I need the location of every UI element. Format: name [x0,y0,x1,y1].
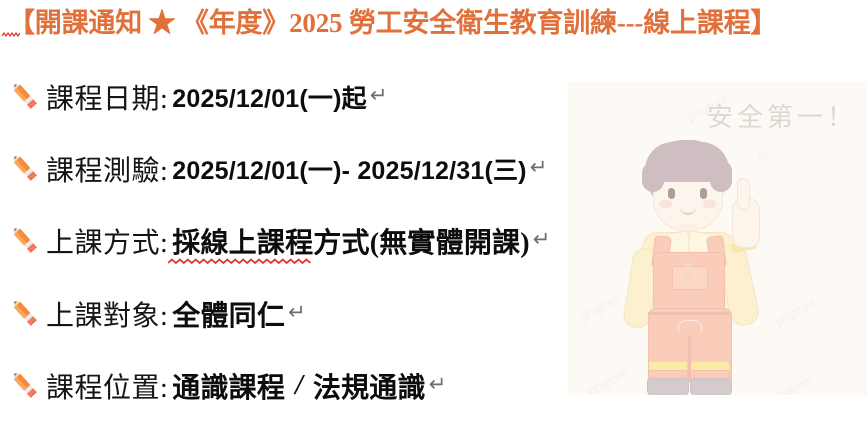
paragraph-mark-icon: ↵ [288,300,306,324]
row-value-part2: 法規通識 [313,366,426,406]
row-label: 課程位置: [46,366,168,406]
paragraph-mark-icon: ↵ [530,155,548,179]
pencil-icon [10,154,40,184]
spellcheck-underline-icon [168,258,313,264]
pointing-finger [737,178,750,210]
row-label: 上課對象: [46,294,168,334]
row-value-misspelled: 採線上課程 [172,228,313,259]
eye-right [700,188,707,199]
row-value: 全體同仁 [172,294,285,334]
row-label: 上課方式: [46,221,168,261]
shirt-button [685,262,691,268]
drawstring-bow [678,320,702,333]
info-row-audience: 上課對象: 全體同仁 ↵ [10,295,306,333]
info-row-class-method: 上課方式: 採線上課程 方式(無實體開課) ↵ [10,222,550,260]
spellcheck-underline-icon [2,32,20,37]
eye-left [668,188,675,199]
boot-right [690,378,732,395]
waistline [648,312,730,315]
hair-tuft-left [642,162,664,192]
pencil-icon [10,371,40,401]
paragraph-mark-icon: ↵ [370,83,388,107]
info-row-course-exam: 課程測驗: 2025/12/01(一)- 2025/12/31(三) ↵ [10,150,547,188]
info-row-course-date: 課程日期: 2025/12/01(一)起 ↵ [10,78,387,116]
pencil-icon [10,226,40,256]
watermark-text: pngtree [577,291,623,325]
separator-slash: / [295,370,303,402]
row-label: 課程日期: [46,77,168,117]
cheek-left [659,200,672,208]
row-value-rest: 方式(無實體開課) [313,221,529,261]
paragraph-mark-icon: ↵ [429,372,447,396]
row-label: 課程測驗: [46,149,168,189]
pencil-icon [10,299,40,329]
row-value: 2025/12/01(一)起 [172,79,367,115]
page-title: 【開課通知 ★ 《年度》2025 勞工安全衛生教育訓練---線上課程】 [8,4,863,42]
cheek-right [703,200,716,208]
hair-tuft-right [710,160,732,192]
safety-worker-figure [620,140,810,395]
info-row-course-location: 課程位置: 通識課程 / 法規通識 ↵ [10,367,446,405]
boot-left [647,378,689,395]
shirt-button [685,274,691,280]
paragraph-mark-icon: ↵ [533,227,551,251]
row-value: 2025/12/01(一)- 2025/12/31(三) [172,151,526,187]
row-value-part1: 通識課程 [172,366,285,406]
misspelled-text: 採線上課程 [168,221,313,261]
pencil-icon [10,82,40,112]
illustration-panel: 安全第一！ pngtree pngtree pngtree pngtree pn… [568,82,867,395]
safety-slogan-text: 安全第一！ [707,97,857,134]
